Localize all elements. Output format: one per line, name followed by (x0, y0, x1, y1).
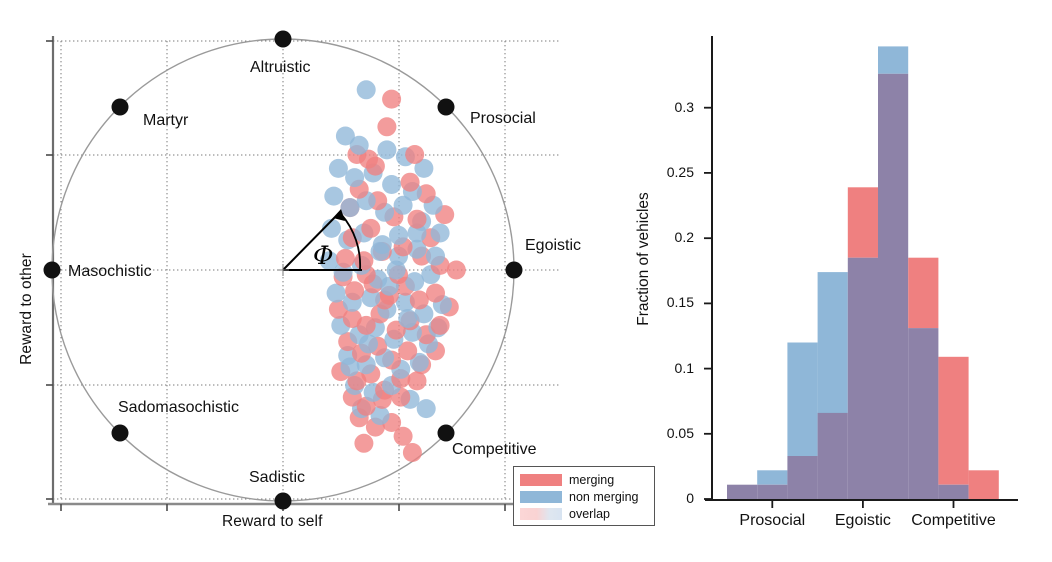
scatter-point-non-merging (341, 198, 360, 217)
hist-xtick-label-competitive: Competitive (884, 513, 1024, 529)
scatter-point-non-merging (336, 127, 355, 146)
marker-sadistic (275, 493, 292, 510)
scatter-point-merging (403, 443, 422, 462)
scatter-point-non-merging (327, 284, 346, 303)
marker-masochistic (44, 262, 61, 279)
ring-label-altruistic: Altruistic (250, 60, 310, 76)
hist-ytick-label-0.3: 0.3 (642, 100, 694, 114)
hist-ytick-label-0.1: 0.1 (642, 361, 694, 375)
scatter-point-non-merging (329, 159, 348, 178)
scatter-point-non-merging (357, 80, 376, 99)
svo-ring-scatter-panel: Φ Altruistic Martyr Masochistic Sadomaso… (0, 0, 600, 562)
hist-bar-top-7 (938, 357, 968, 485)
hist-bar-top-8 (969, 470, 999, 499)
scatter-point-non-merging (324, 187, 343, 206)
hist-bar-top-1 (757, 470, 787, 484)
hist-bar-overlap-3 (818, 413, 848, 499)
scatter-points-layer (320, 80, 466, 462)
hist-ytick-label-0.15: 0.15 (642, 295, 694, 309)
svo-histogram-svg (600, 0, 1052, 562)
scatter-point-merging (447, 261, 466, 280)
scatter-point-non-merging (345, 168, 364, 187)
hist-ytick-label-0: 0 (642, 491, 694, 505)
scatter-point-non-merging (377, 140, 396, 159)
scatter-point-merging (361, 219, 380, 238)
phi-symbol-text: Φ (313, 241, 334, 270)
hist-bar-overlap-5 (878, 74, 908, 499)
scatter-point-merging (410, 291, 429, 310)
ring-label-prosocial: Prosocial (470, 111, 536, 127)
marker-martyr (112, 99, 129, 116)
scatter-point-merging (431, 316, 450, 335)
hist-bar-top-5 (878, 46, 908, 73)
scatter-point-merging (354, 434, 373, 453)
hist-ytick-label-0.05: 0.05 (642, 426, 694, 440)
y-axis-title: Reward to other (18, 244, 36, 374)
hist-bar-top-4 (848, 187, 878, 257)
legend-swatch-overlap (520, 508, 562, 520)
svo-histogram-panel: Fraction of vehicles 00.050.10.150.20.25… (600, 0, 1052, 562)
hist-bar-overlap-1 (757, 485, 787, 499)
hist-bar-top-6 (908, 258, 938, 328)
scatter-point-merging (408, 210, 427, 229)
scatter-point-non-merging (426, 247, 445, 266)
scatter-point-merging (382, 90, 401, 109)
ring-label-sadistic: Sadistic (249, 470, 305, 486)
marker-sadomasochistic (112, 425, 129, 442)
scatter-point-non-merging (382, 175, 401, 194)
scatter-point-non-merging (431, 224, 450, 243)
figure-root: Φ Altruistic Martyr Masochistic Sadomaso… (0, 0, 1052, 562)
scatter-point-non-merging (389, 226, 408, 245)
marker-egoistic (506, 262, 523, 279)
marker-prosocial (438, 99, 455, 116)
hist-bar-overlap-7 (938, 485, 968, 499)
scatter-point-non-merging (398, 309, 417, 328)
marker-competitive (438, 425, 455, 442)
ring-label-masochistic: Masochistic (68, 264, 152, 280)
hist-bar-overlap-2 (787, 456, 817, 499)
hist-bar-overlap-6 (908, 328, 938, 499)
legend-swatch-merging (520, 474, 562, 486)
scatter-point-merging (408, 371, 427, 390)
scatter-point-merging (401, 173, 420, 192)
x-axis-title: Reward to self (222, 513, 322, 531)
ring-label-martyr: Martyr (143, 113, 188, 129)
hist-bar-overlap-4 (848, 258, 878, 499)
histogram-bars-layer (727, 46, 999, 499)
hist-ytick-label-0.25: 0.25 (642, 165, 694, 179)
marker-altruistic (275, 31, 292, 48)
scatter-point-merging (405, 145, 424, 164)
scatter-point-merging (336, 249, 355, 268)
scatter-point-non-merging (373, 235, 392, 254)
ring-label-sadomasochistic: Sadomasochistic (118, 400, 239, 416)
scatter-point-merging (354, 251, 373, 270)
hist-bar-overlap-0 (727, 485, 757, 499)
hist-bar-top-3 (818, 272, 848, 413)
scatter-point-merging (426, 284, 445, 303)
ring-label-competitive: Competitive (452, 442, 536, 458)
scatter-point-merging (377, 117, 396, 136)
hist-bar-top-2 (787, 343, 817, 457)
legend-swatch-non-merging (520, 491, 562, 503)
scatter-point-non-merging (417, 399, 436, 418)
ring-label-egoistic: Egoistic (525, 238, 581, 254)
hist-y-axis-title: Fraction of vehicles (635, 179, 653, 339)
hist-ytick-label-0.2: 0.2 (642, 230, 694, 244)
